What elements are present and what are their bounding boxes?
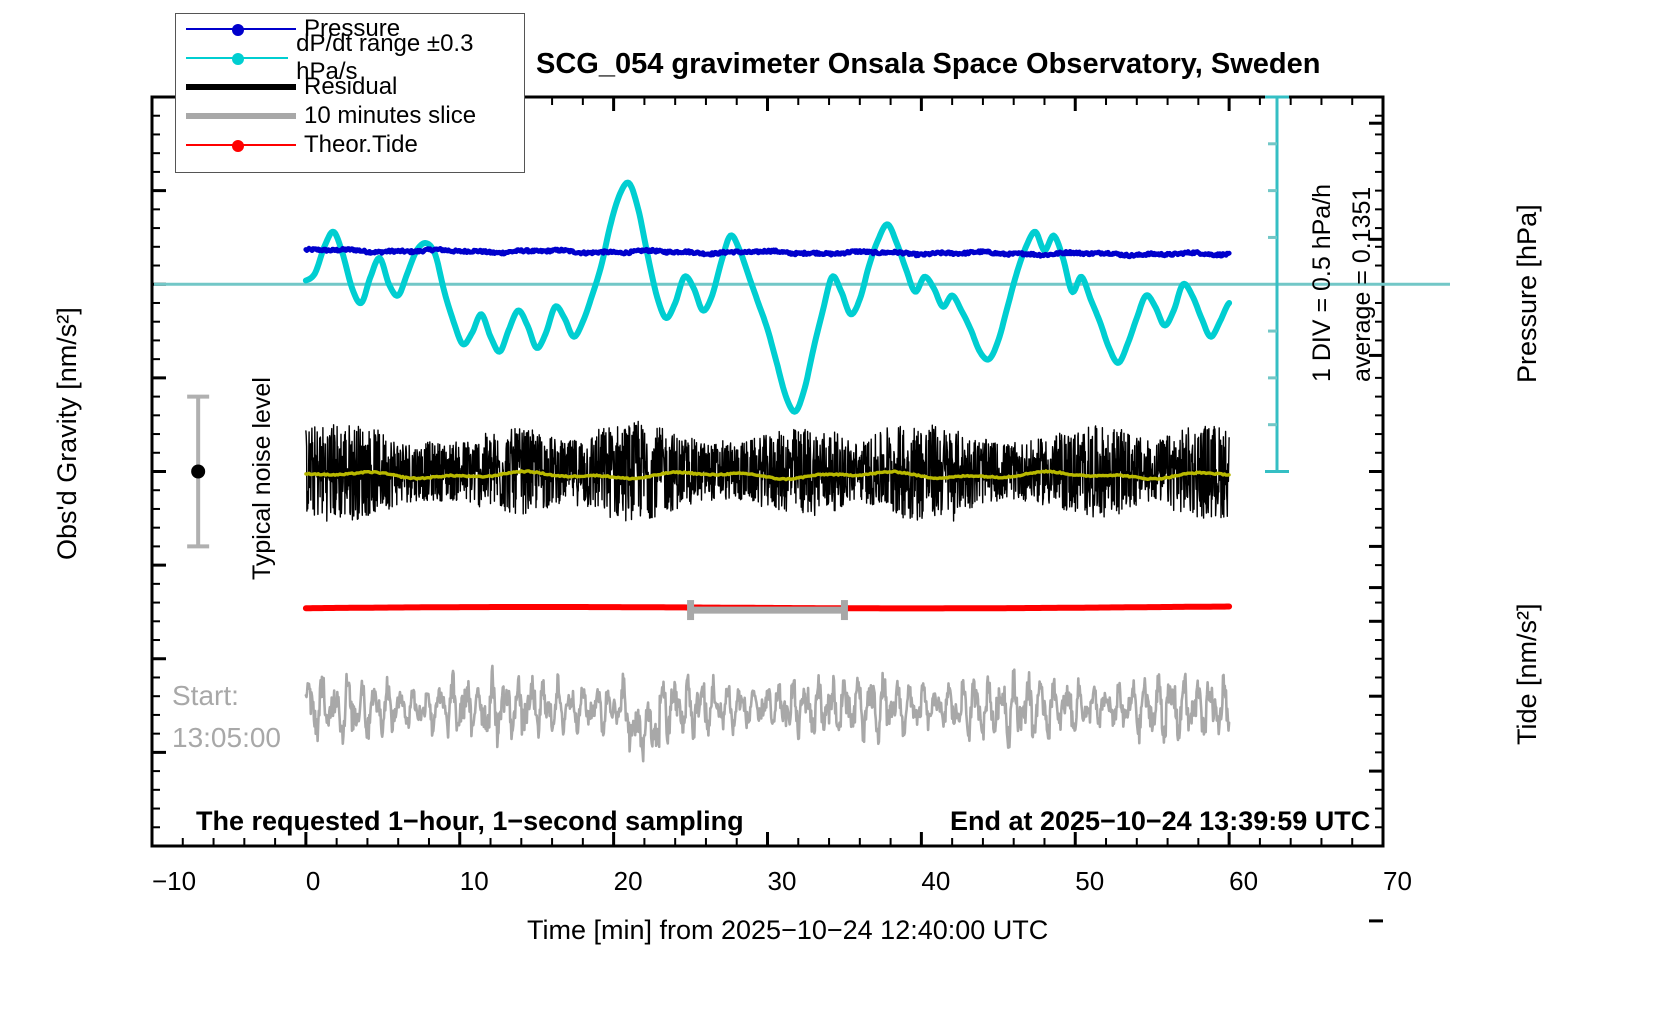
start-label: Start: <box>172 680 239 712</box>
y-axis-title-left: Obs'd Gravity [nm/s²] <box>52 307 83 560</box>
x-tick-label: 0 <box>306 866 320 897</box>
legend: PressuredP/dt range ±0.3 hPa/sResidual10… <box>175 13 525 173</box>
x-tick-label: 40 <box>921 866 950 897</box>
div-scale-label: 1 DIV = 0.5 hPa/h <box>1308 184 1337 382</box>
x-tick-label: 60 <box>1229 866 1258 897</box>
x-tick-label: 70 <box>1383 866 1412 897</box>
x-tick-label: −10 <box>152 866 196 897</box>
y-axis-title-pressure: Pressure [hPa] <box>1512 204 1543 383</box>
legend-item-1: dP/dt range ±0.3 hPa/s <box>186 43 524 72</box>
legend-marker-dot <box>232 24 244 36</box>
legend-marker-dot <box>232 53 244 65</box>
legend-label: Residual <box>304 73 397 101</box>
legend-label: Theor.Tide <box>304 131 418 159</box>
y-axis-title-tide: Tide [nm/s²] <box>1512 603 1543 745</box>
series-dpdt <box>306 183 1229 412</box>
x-axis-title: Time [min] from 2025−10−24 12:40:00 UTC <box>527 915 1048 946</box>
chart-title: SCG_054 gravimeter Onsala Space Observat… <box>536 48 1320 81</box>
legend-swatch <box>186 113 296 119</box>
legend-marker-dot <box>232 140 244 152</box>
bottom-right-note: End at 2025−10−24 13:39:59 UTC <box>950 806 1370 837</box>
x-tick-label: 30 <box>768 866 797 897</box>
legend-swatch <box>186 144 296 146</box>
x-tick-label: 10 <box>460 866 489 897</box>
series-10min-slice <box>306 666 1229 761</box>
noise-center-dot <box>191 465 205 479</box>
start-time: 13:05:00 <box>172 722 281 754</box>
legend-item-4: Theor.Tide <box>186 130 524 159</box>
legend-item-3: 10 minutes slice <box>186 101 524 130</box>
legend-label: 10 minutes slice <box>304 102 476 130</box>
series-residual <box>306 421 1229 521</box>
legend-swatch <box>186 84 296 90</box>
x-tick-label: 20 <box>614 866 643 897</box>
bottom-left-note: The requested 1−hour, 1−second sampling <box>196 806 744 837</box>
legend-swatch <box>186 28 296 30</box>
series-pressure <box>306 248 1229 256</box>
x-tick-label: 50 <box>1075 866 1104 897</box>
average-label: average = 0.1351 <box>1348 187 1377 382</box>
noise-level-label: Typical noise level <box>248 377 277 580</box>
legend-swatch <box>186 57 288 59</box>
